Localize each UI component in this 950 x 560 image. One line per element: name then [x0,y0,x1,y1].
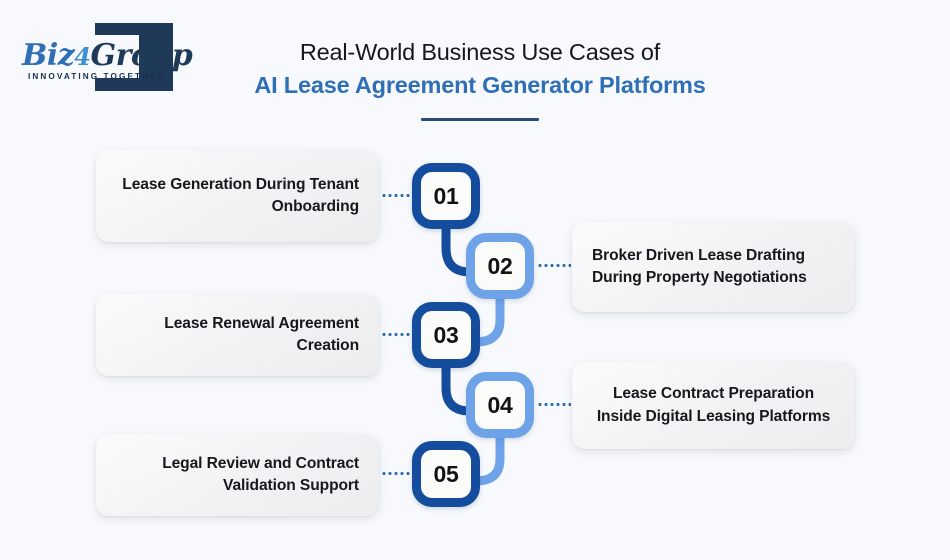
use-cases-diagram: Lease Generation During Tenant Onboardin… [0,0,950,560]
step-badge-1[interactable]: 01 [412,163,480,229]
dotted-connector-1 [381,194,411,197]
use-case-label-1: Lease Generation During Tenant Onboardin… [116,174,359,218]
step-number-4: 04 [488,392,513,419]
use-case-card-2[interactable]: Broker Driven Lease Drafting During Prop… [572,222,855,312]
use-case-card-5[interactable]: Legal Review and Contract Validation Sup… [96,434,379,516]
use-case-card-1[interactable]: Lease Generation During Tenant Onboardin… [96,150,379,242]
use-case-label-3: Lease Renewal Agreement Creation [116,313,359,357]
step-number-3: 03 [434,322,459,349]
use-case-label-5: Legal Review and Contract Validation Sup… [116,453,359,497]
step-badge-4[interactable]: 04 [466,372,534,438]
dotted-connector-4 [537,403,571,406]
dotted-connector-5 [381,472,411,475]
use-case-card-4[interactable]: Lease Contract Preparation Inside Digita… [572,362,855,449]
use-case-label-2: Broker Driven Lease Drafting During Prop… [592,245,835,289]
step-number-5: 05 [434,461,459,488]
step-badge-3[interactable]: 03 [412,302,480,368]
step-number-2: 02 [488,253,513,280]
dotted-connector-3 [381,333,411,336]
step-badge-5[interactable]: 05 [412,441,480,507]
use-case-card-3[interactable]: Lease Renewal Agreement Creation [96,294,379,376]
dotted-connector-2 [537,264,571,267]
step-badge-2[interactable]: 02 [466,233,534,299]
use-case-label-4: Lease Contract Preparation Inside Digita… [592,383,835,427]
step-number-1: 01 [434,183,459,210]
